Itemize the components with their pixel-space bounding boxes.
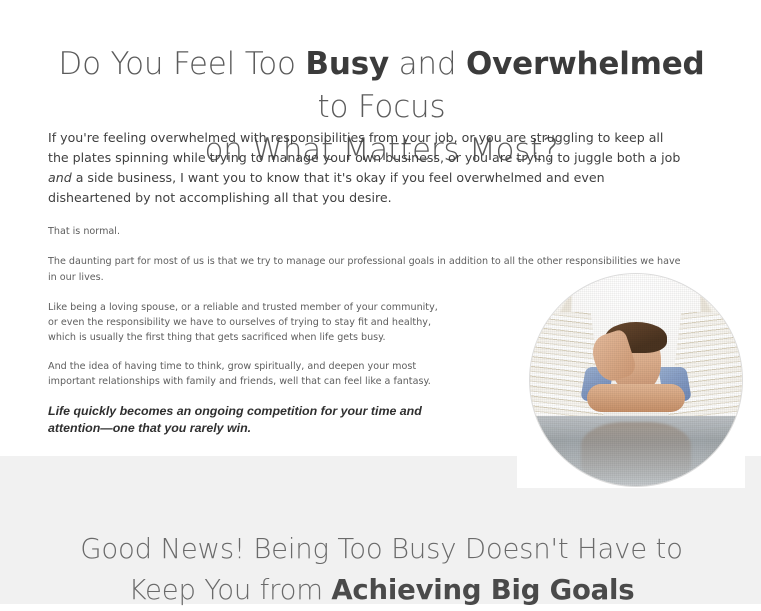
paragraph-emphasis: Life quickly becomes an ongoing competit… <box>48 403 428 437</box>
headline-text-1: Do You Feel Too <box>58 46 305 82</box>
hero-top-section: Do You Feel Too Busy and Overwhelmed to … <box>0 0 761 456</box>
paragraph-lead-part2: a side business, I want you to know that… <box>48 170 605 205</box>
paragraph-lead: If you're feeling overwhelmed with respo… <box>48 128 682 208</box>
photo-grain-overlay <box>530 274 742 486</box>
hero-photo-circle <box>530 274 742 486</box>
headline-text-3: to Focus <box>318 89 446 125</box>
section-title-good-news: Good News! Being Too Busy Doesn't Have t… <box>44 529 719 611</box>
paragraph-idea: And the idea of having time to think, gr… <box>48 359 448 389</box>
headline-emphasis-overwhelmed: Overwhelmed <box>466 46 705 82</box>
paragraph-lead-italic: and <box>48 170 72 185</box>
paragraph-lead-part1: If you're feeling overwhelmed with respo… <box>48 130 680 165</box>
bottom-headline-line-1: Good News! Being Too Busy Doesn't Have t… <box>80 533 682 565</box>
landing-page: Do You Feel Too Busy and Overwhelmed to … <box>0 0 761 604</box>
bottom-headline-emphasis: Achieving Big Goals <box>331 574 634 606</box>
headline-text-2: and <box>389 46 466 82</box>
paragraph-normal: That is normal. <box>48 224 682 240</box>
bottom-headline-line-2-text: Keep You from <box>129 574 332 606</box>
hero-photo-frame <box>517 268 745 488</box>
paragraph-spouse: Like being a loving spouse, or a reliabl… <box>48 300 448 345</box>
headline-emphasis-busy: Busy <box>305 46 389 82</box>
